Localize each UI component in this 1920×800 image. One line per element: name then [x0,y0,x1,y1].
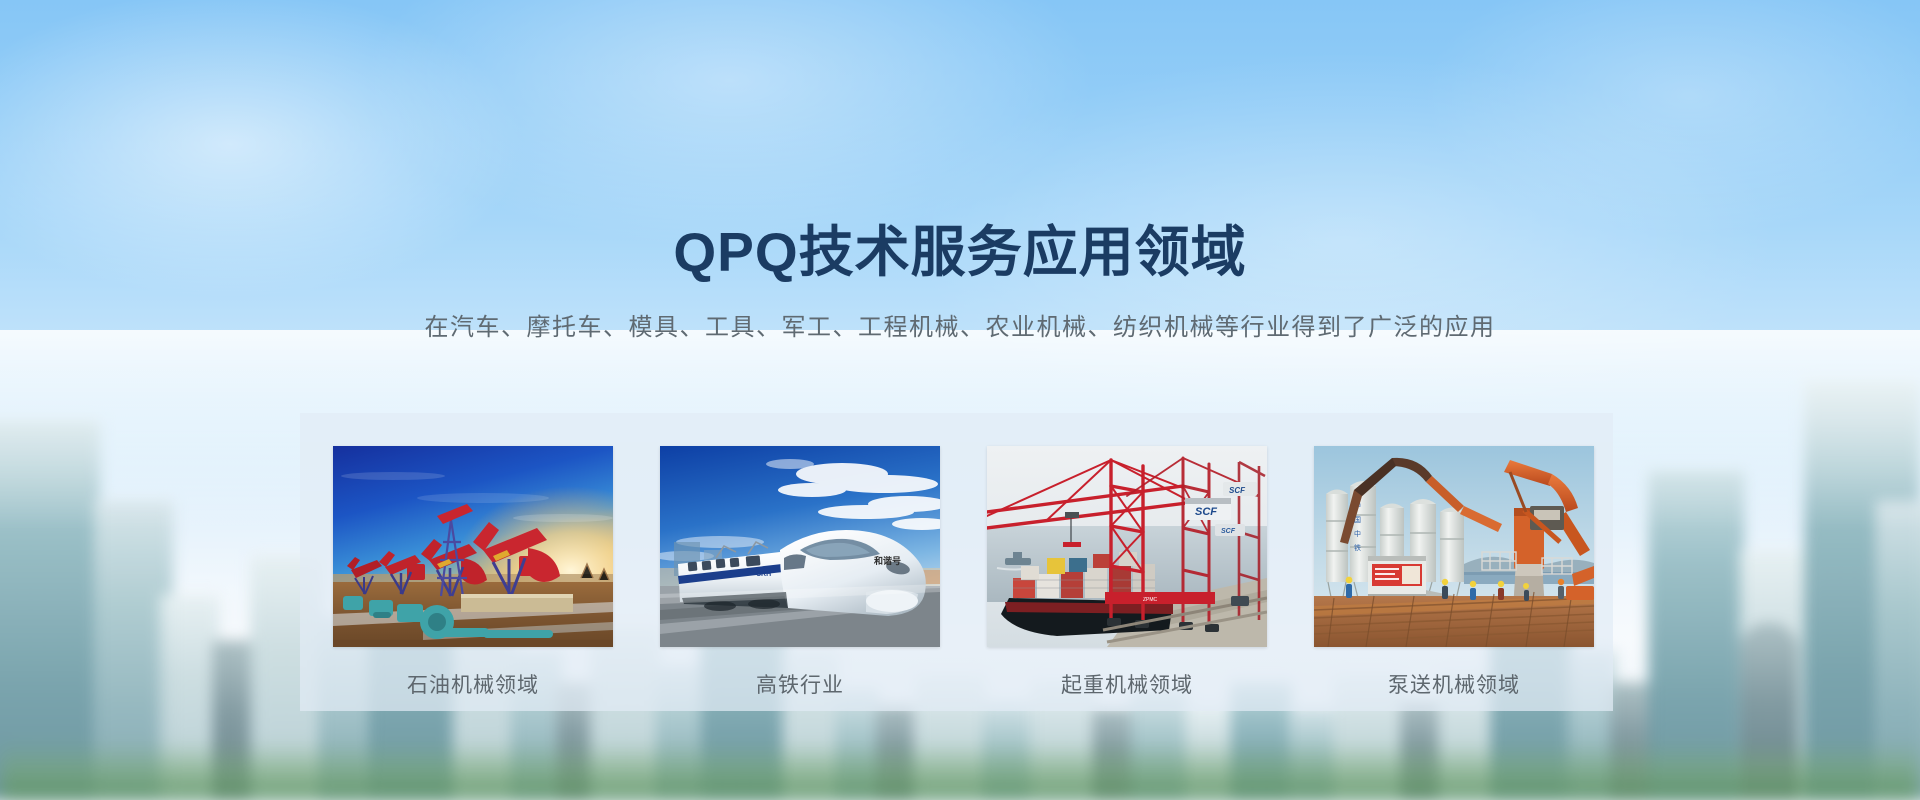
page-title: QPQ技术服务应用领域 [0,222,1920,283]
application-card-railway[interactable]: CRH 和谐号 [660,446,940,699]
concrete-pumping-machinery-image[interactable]: 中 国 中 铁 [1314,446,1594,647]
svg-text:铁: 铁 [1354,543,1361,552]
svg-text:SCF: SCF [1221,528,1236,535]
hero-heading-block: QPQ技术服务应用领域 在汽车、摩托车、模具、工具、军工、工程机械、农业机械、纺… [0,222,1920,342]
high-speed-train-crh-image[interactable]: CRH 和谐号 [660,446,940,647]
card-caption: 高铁行业 [660,669,940,699]
svg-text:SCF: SCF [1229,486,1246,495]
oil-pumpjacks-sunset-image[interactable] [333,446,613,647]
svg-text:CRH: CRH [756,571,771,578]
svg-text:ZPMC: ZPMC [1143,597,1158,603]
svg-text:SCF: SCF [1195,506,1217,518]
svg-text:中: 中 [1354,529,1361,538]
port-gantry-cranes-image[interactable]: SCF SCF SCF ZPMC [987,446,1267,647]
application-card-oil[interactable]: 石油机械领域 [333,446,613,699]
page-subtitle: 在汽车、摩托车、模具、工具、军工、工程机械、农业机械、纺织机械等行业得到了广泛的… [0,307,1920,342]
card-caption: 起重机械领域 [987,669,1267,699]
application-card-pumping[interactable]: 中 国 中 铁 [1314,446,1594,699]
svg-text:和谐号: 和谐号 [873,555,901,567]
application-card-crane[interactable]: SCF SCF SCF ZPMC [987,446,1267,699]
card-caption: 石油机械领域 [333,669,613,699]
card-caption: 泵送机械领域 [1314,669,1594,699]
application-fields-panel: 石油机械领域 [300,413,1613,711]
application-card-list: 石油机械领域 [333,446,1594,699]
